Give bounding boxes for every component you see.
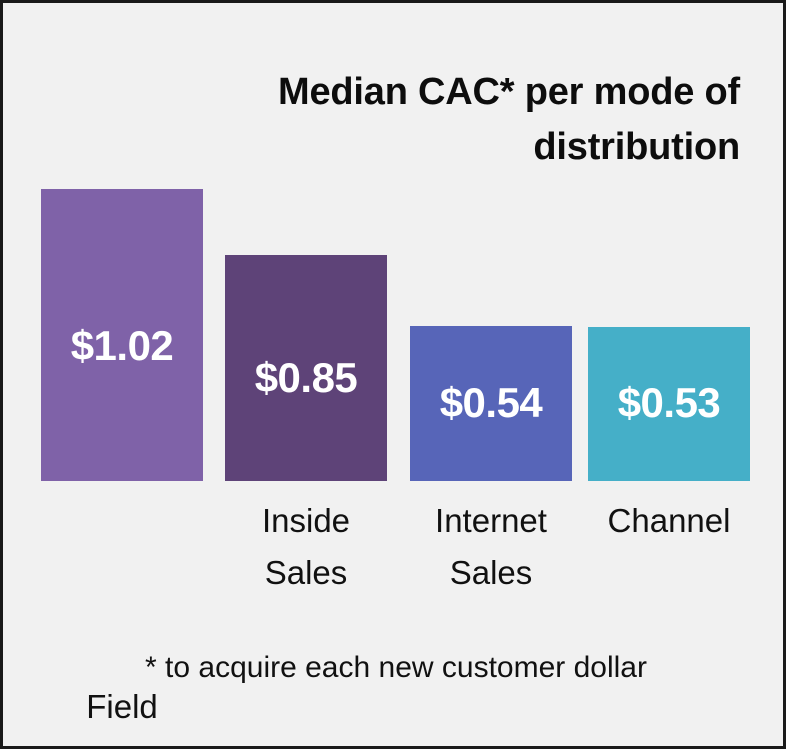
bar-category-inside-sales: Inside Sales <box>211 495 401 599</box>
bar-category-field-sales: Field Sales <box>27 681 217 749</box>
bar-category-internet-sales-line-2: Sales <box>396 547 586 599</box>
chart-figure: Median CAC* per mode of distribution $1.… <box>0 0 786 749</box>
bar-group-inside-sales: $0.85 Inside Sales <box>225 255 387 481</box>
chart-footnote: * to acquire each new customer dollar <box>3 648 786 687</box>
bar-group-internet-sales: $0.54 Internet Sales <box>410 326 572 481</box>
plot-area: $1.02 Field Sales $0.85 Inside Sales $0.… <box>3 3 786 749</box>
bar-value-field-sales: $1.02 <box>41 325 203 367</box>
bar-category-internet-sales-line-1: Internet <box>396 495 586 547</box>
bar-category-channel: Channel <box>574 495 764 547</box>
bar-category-field-sales-line-2: Sales <box>27 733 217 749</box>
bar-value-channel: $0.53 <box>588 382 750 424</box>
bar-group-channel: $0.53 Channel <box>588 327 750 481</box>
bar-value-internet-sales: $0.54 <box>410 382 572 424</box>
bar-category-internet-sales: Internet Sales <box>396 495 586 599</box>
bar-category-inside-sales-line-1: Inside <box>211 495 401 547</box>
bar-category-channel-line-1: Channel <box>574 495 764 547</box>
bar-value-inside-sales: $0.85 <box>225 357 387 399</box>
bar-category-inside-sales-line-2: Sales <box>211 547 401 599</box>
bar-category-field-sales-line-1: Field <box>27 681 217 733</box>
bar-group-field-sales: $1.02 Field Sales <box>41 189 203 481</box>
